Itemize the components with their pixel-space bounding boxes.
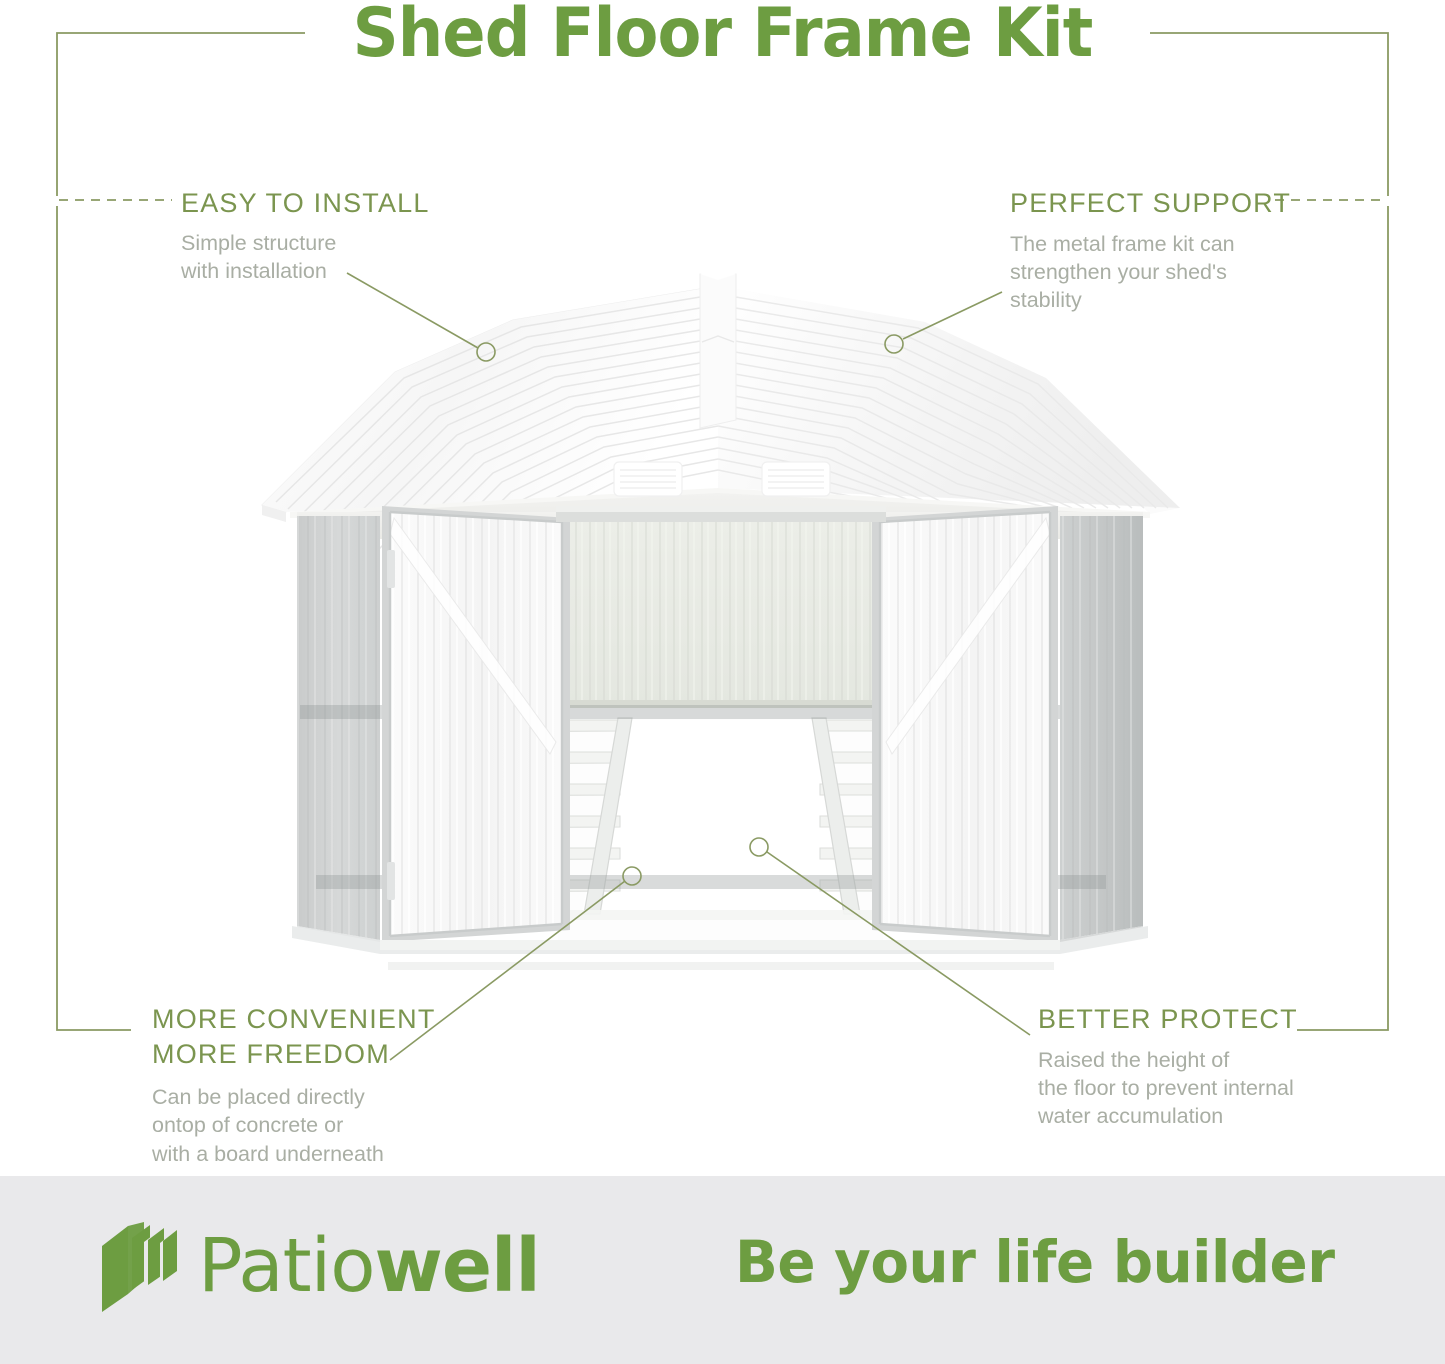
door-hinge-bottom [387, 862, 395, 900]
brand-wordmark: Patiowell [198, 1229, 540, 1303]
brand-tagline: Be your life builder [735, 1228, 1334, 1296]
shed-door-left [382, 506, 570, 942]
door-header-beam [556, 506, 886, 522]
callout-body: Simple structure with installation [181, 229, 430, 286]
gable-vent-right [762, 462, 830, 496]
callout-title: PERFECT SUPPORT [1010, 186, 1291, 221]
gable-vent-left [614, 462, 682, 496]
callout-better-protect: BETTER PROTECT Raised the height of the … [1038, 1002, 1298, 1131]
callout-title: MORE CONVENIENT MORE FREEDOM [152, 1002, 436, 1071]
callout-perfect-support: PERFECT SUPPORT The metal frame kit can … [1010, 186, 1291, 315]
brand-logo: Patiowell [98, 1220, 540, 1312]
shed-interior-back-wall [558, 516, 883, 710]
callout-title: BETTER PROTECT [1038, 1002, 1298, 1037]
brand-name-light: Patio [198, 1223, 375, 1309]
callout-body: The metal frame kit can strengthen your … [1010, 230, 1291, 315]
brand-name-bold: well [375, 1223, 540, 1309]
patiowell-layers-logo-icon [98, 1220, 184, 1312]
shed-door-right [872, 506, 1058, 942]
shed-illustration [0, 250, 1445, 970]
callout-more-convenient: MORE CONVENIENT MORE FREEDOM Can be plac… [152, 1002, 436, 1168]
callout-body: Raised the height of the floor to preven… [1038, 1046, 1298, 1131]
callout-easy-to-install: EASY TO INSTALL Simple structure with in… [181, 186, 430, 285]
callout-title: EASY TO INSTALL [181, 186, 430, 221]
roof-ridge-cap [700, 268, 736, 428]
page-title: Shed Floor Frame Kit [43, 0, 1401, 72]
door-hinge-top [387, 550, 395, 588]
infographic-page: Shed Floor Frame Kit [0, 0, 1445, 1364]
callout-body: Can be placed directly ontop of concrete… [152, 1083, 436, 1168]
brand-footer: Patiowell Be your life builder [0, 1176, 1445, 1364]
